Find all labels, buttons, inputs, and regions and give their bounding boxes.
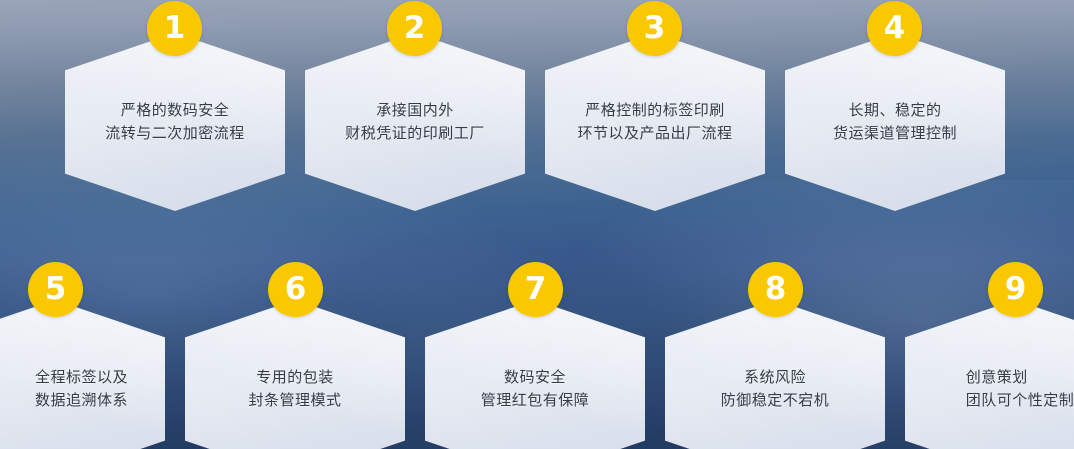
hexagon-card-1[interactable]: 严格的数码安全 流转与二次加密流程 [65, 33, 285, 211]
hexagon-badge-4-number: 4 [884, 13, 906, 44]
hexagon-card-2[interactable]: 承接国内外 财税凭证的印刷工厂 [305, 33, 525, 211]
hexagon-badge-8[interactable]: 8 [748, 262, 803, 317]
hexagon-badge-3-number: 3 [644, 13, 666, 44]
hexagon-card-3[interactable]: 严格控制的标签印刷 环节以及产品出厂流程 [545, 33, 765, 211]
hexagon-badge-7[interactable]: 7 [508, 262, 563, 317]
hexagon-card-6-text: 专用的包装 封条管理模式 [238, 366, 351, 413]
hexagon-badge-4[interactable]: 4 [867, 1, 922, 56]
hexagon-card-7-text: 数码安全 管理红包有保障 [471, 366, 600, 413]
infographic-stage: 严格的数码安全 流转与二次加密流程 1 承接国内外 财税凭证的印刷工厂 2 严格… [0, 0, 1074, 449]
hexagon-badge-5-number: 5 [45, 274, 67, 305]
hexagon-card-2-text: 承接国内外 财税凭证的印刷工厂 [335, 99, 495, 146]
hexagon-card-1-text: 严格的数码安全 流转与二次加密流程 [95, 99, 255, 146]
hexagon-badge-2[interactable]: 2 [387, 1, 442, 56]
hexagon-badge-2-number: 2 [404, 13, 426, 44]
hexagon-badge-1-number: 1 [164, 13, 186, 44]
hexagon-badge-6-number: 6 [285, 274, 307, 305]
hexagon-badge-9[interactable]: 9 [988, 262, 1043, 317]
hexagon-card-4[interactable]: 长期、稳定的 货运渠道管理控制 [785, 33, 1005, 211]
hexagon-badge-8-number: 8 [765, 274, 787, 305]
hexagon-badge-7-number: 7 [525, 274, 547, 305]
hexagon-card-5-text: 全程标签以及 数据追溯体系 [0, 366, 138, 413]
hexagon-card-4-text: 长期、稳定的 货运渠道管理控制 [823, 99, 967, 146]
hexagon-badge-9-number: 9 [1005, 274, 1027, 305]
hexagon-card-8-text: 系统风险 防御稳定不宕机 [711, 366, 840, 413]
hexagon-badge-3[interactable]: 3 [627, 1, 682, 56]
hexagon-badge-5[interactable]: 5 [28, 262, 83, 317]
hexagon-badge-1[interactable]: 1 [147, 1, 202, 56]
hexagon-card-9-text: 创意策划 团队可个性定制 [956, 366, 1074, 413]
hexagon-card-3-text: 严格控制的标签印刷 环节以及产品出厂流程 [567, 99, 742, 146]
hexagon-badge-6[interactable]: 6 [268, 262, 323, 317]
